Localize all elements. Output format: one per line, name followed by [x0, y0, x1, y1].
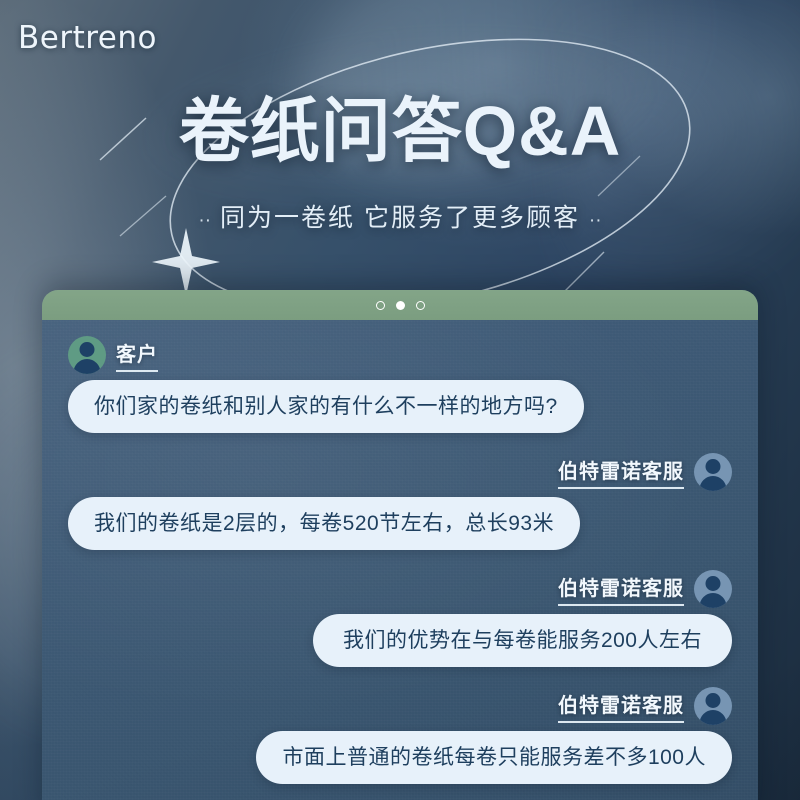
subtitle-dots-left: ·· [198, 210, 211, 231]
customer-avatar-icon [68, 336, 106, 374]
speaker-name-customer: 客户 [116, 338, 158, 372]
agent-avatar-icon [694, 687, 732, 725]
agent-avatar-icon [694, 453, 732, 491]
speaker-row-agent: 伯特雷诺客服 [68, 453, 732, 491]
subtitle-text: 同为一卷纸 它服务了更多顾客 [220, 204, 580, 232]
chat-bubble: 你们家的卷纸和别人家的有什么不一样的地方吗? [68, 380, 584, 433]
chat-bubble: 我们的优势在与每卷能服务200人左右 [313, 614, 732, 667]
speaker-name-agent: 伯特雷诺客服 [558, 689, 684, 723]
subtitle-dots-right: ·· [589, 210, 602, 231]
four-point-sparkle-icon [152, 228, 220, 296]
speaker-name-agent: 伯特雷诺客服 [558, 572, 684, 606]
speaker-row-agent: 伯特雷诺客服 [68, 570, 732, 608]
window-dot-2-icon[interactable] [396, 301, 405, 310]
chat-row: 我们的优势在与每卷能服务200人左右 [68, 614, 732, 667]
chat-row: 市面上普通的卷纸每卷只能服务差不多100人 [68, 731, 732, 784]
brand-logo: Bertreno [18, 20, 157, 56]
page-title: 卷纸问答Q&A [0, 96, 800, 166]
window-dot-1-icon[interactable] [376, 301, 385, 310]
agent-avatar-icon [694, 570, 732, 608]
chat-message-list: 客户 你们家的卷纸和别人家的有什么不一样的地方吗? 伯特雷诺客服 我们的卷纸是2… [42, 320, 758, 800]
speaker-row-customer: 客户 [68, 336, 732, 374]
page-subtitle: ·· 同为一卷纸 它服务了更多顾客 ·· [0, 198, 800, 234]
chat-row: 我们的卷纸是2层的，每卷520节左右，总长93米 [68, 497, 732, 550]
chat-panel: 客户 你们家的卷纸和别人家的有什么不一样的地方吗? 伯特雷诺客服 我们的卷纸是2… [42, 290, 758, 800]
chat-bubble: 我们的卷纸是2层的，每卷520节左右，总长93米 [68, 497, 580, 550]
promo-page: Bertreno 卷纸问答Q&A ·· 同为一卷纸 它服务了更多顾客 ·· 客户… [0, 0, 800, 800]
speaker-name-agent: 伯特雷诺客服 [558, 455, 684, 489]
speaker-row-agent: 伯特雷诺客服 [68, 687, 732, 725]
window-dot-3-icon[interactable] [416, 301, 425, 310]
chat-row: 你们家的卷纸和别人家的有什么不一样的地方吗? [68, 380, 732, 433]
chat-bubble: 市面上普通的卷纸每卷只能服务差不多100人 [256, 731, 732, 784]
chat-panel-titlebar [42, 290, 758, 320]
